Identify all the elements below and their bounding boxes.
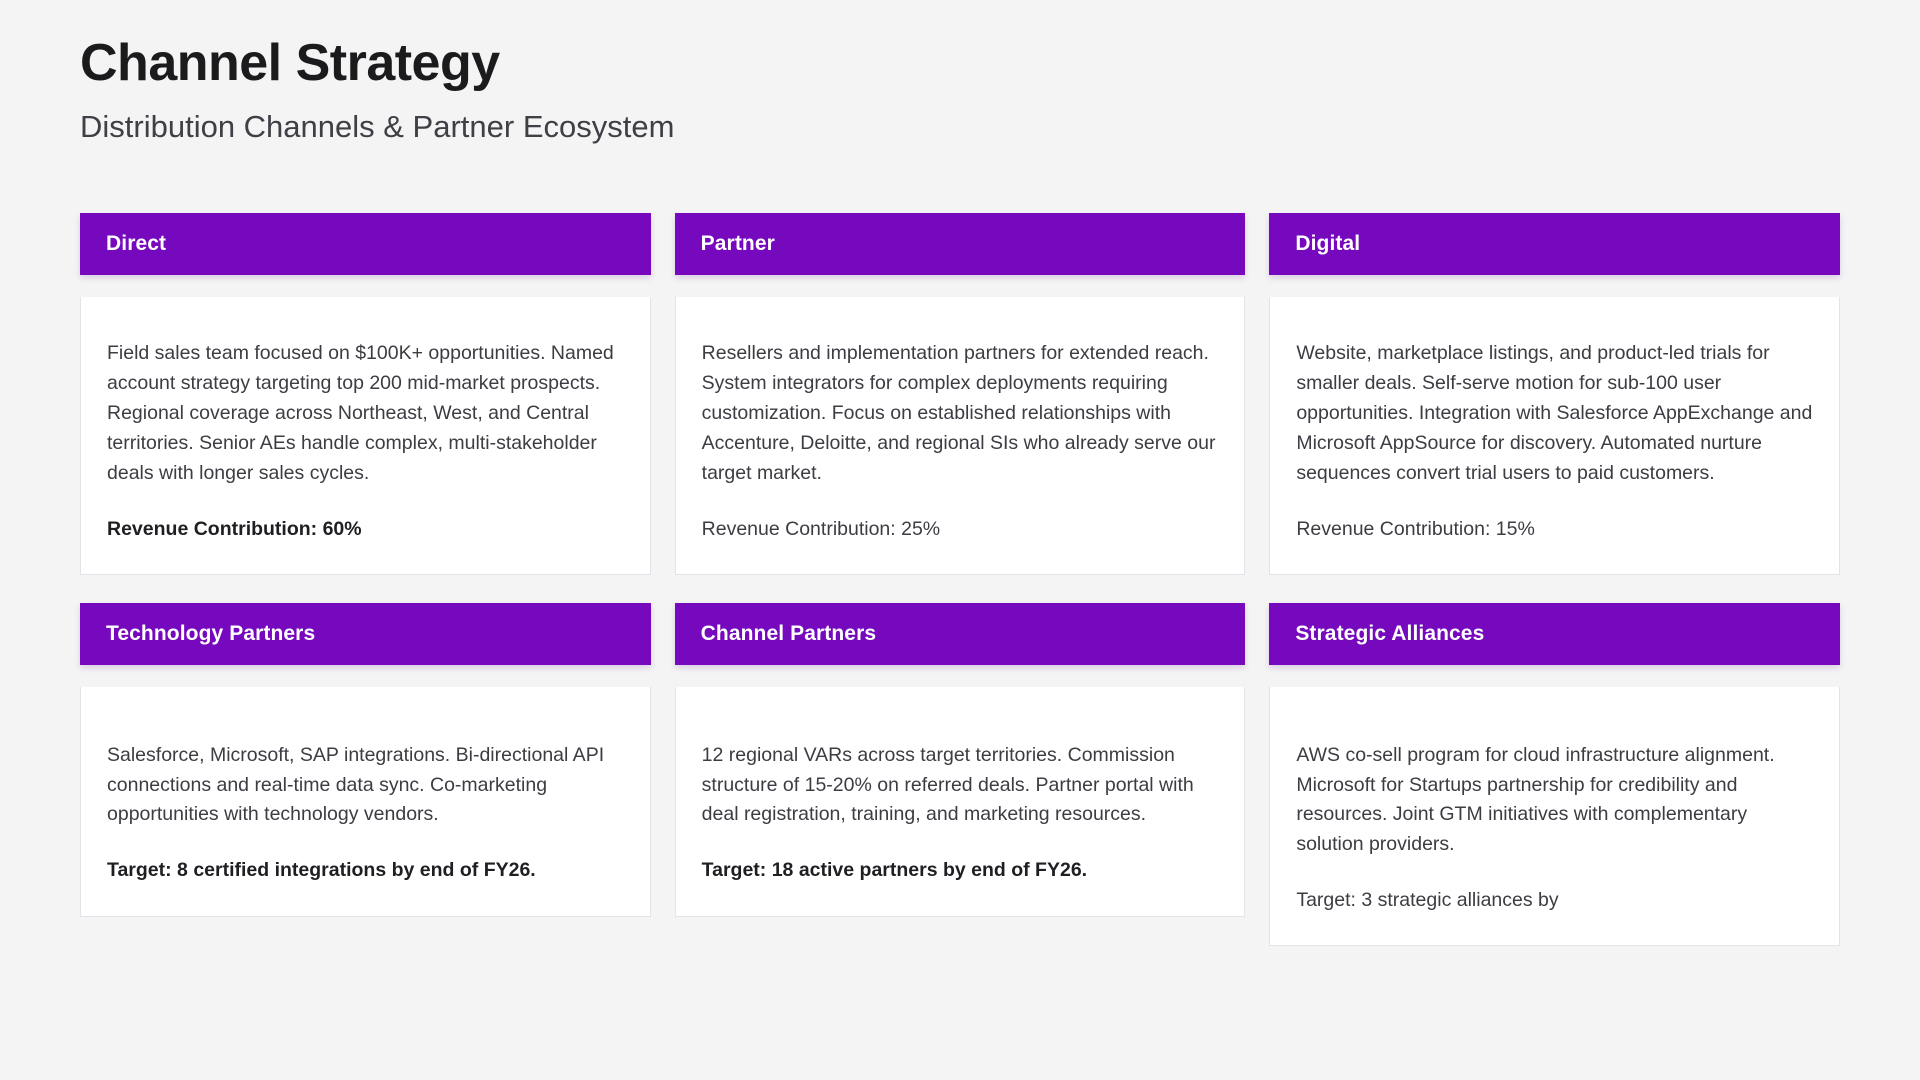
- card-description: Field sales team focused on $100K+ oppor…: [107, 339, 624, 488]
- card-description: AWS co-sell program for cloud infrastruc…: [1296, 741, 1813, 860]
- card-header-strategic-alliances: Strategic Alliances: [1269, 603, 1840, 665]
- card-body-strategic-alliances: AWS co-sell program for cloud infrastruc…: [1269, 687, 1840, 947]
- card-header-technology-partners: Technology Partners: [80, 603, 651, 665]
- card-description: Resellers and implementation partners fo…: [702, 339, 1219, 488]
- channel-card-strategic-alliances[interactable]: Strategic Alliances AWS co-sell program …: [1269, 603, 1840, 947]
- card-header-direct: Direct: [80, 213, 651, 275]
- channel-card-channel-partners[interactable]: Channel Partners 12 regional VARs across…: [675, 603, 1246, 947]
- page-title: Channel Strategy: [80, 34, 1840, 92]
- card-body-direct: Field sales team focused on $100K+ oppor…: [80, 297, 651, 574]
- channel-card-partner[interactable]: Partner Resellers and implementation par…: [675, 213, 1246, 574]
- card-body-partner: Resellers and implementation partners fo…: [675, 297, 1246, 574]
- card-metric: Revenue Contribution: 60%: [107, 515, 624, 544]
- card-header-digital: Digital: [1269, 213, 1840, 275]
- channel-card-digital[interactable]: Digital Website, marketplace listings, a…: [1269, 213, 1840, 574]
- card-metric: Revenue Contribution: 25%: [702, 515, 1219, 544]
- card-body-channel-partners: 12 regional VARs across target territori…: [675, 687, 1246, 917]
- channel-card-direct[interactable]: Direct Field sales team focused on $100K…: [80, 213, 651, 574]
- channel-card-technology-partners[interactable]: Technology Partners Salesforce, Microsof…: [80, 603, 651, 947]
- card-description: Website, marketplace listings, and produ…: [1296, 339, 1813, 488]
- card-description: 12 regional VARs across target territori…: [702, 741, 1219, 830]
- card-body-digital: Website, marketplace listings, and produ…: [1269, 297, 1840, 574]
- card-metric: Target: 18 active partners by end of FY2…: [702, 856, 1219, 885]
- slide-root: Channel Strategy Distribution Channels &…: [0, 0, 1920, 1080]
- card-description: Salesforce, Microsoft, SAP integrations.…: [107, 741, 624, 830]
- channel-card-grid: Direct Field sales team focused on $100K…: [80, 213, 1840, 946]
- page-subtitle: Distribution Channels & Partner Ecosyste…: [80, 108, 1840, 145]
- card-header-channel-partners: Channel Partners: [675, 603, 1246, 665]
- card-header-partner: Partner: [675, 213, 1246, 275]
- page-header: Channel Strategy Distribution Channels &…: [80, 0, 1840, 145]
- card-body-technology-partners: Salesforce, Microsoft, SAP integrations.…: [80, 687, 651, 917]
- card-metric: Target: 3 strategic alliances by: [1296, 886, 1813, 915]
- card-metric: Target: 8 certified integrations by end …: [107, 856, 624, 885]
- card-metric: Revenue Contribution: 15%: [1296, 515, 1813, 544]
